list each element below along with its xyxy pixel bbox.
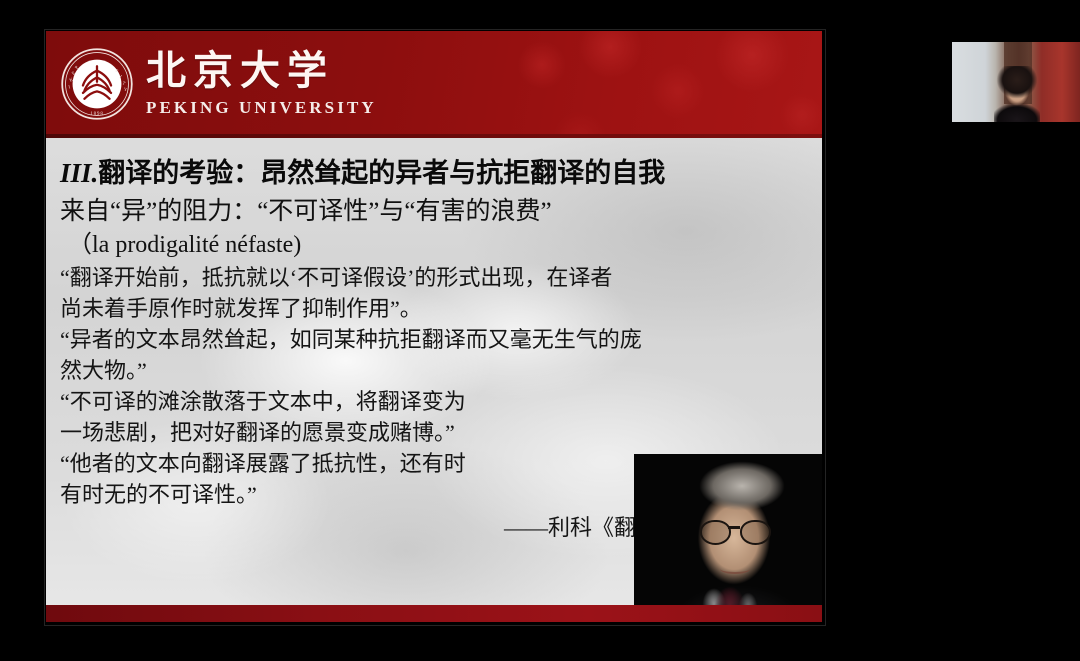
quote-line: 尚未着手原作时就发挥了抑制作用”。 bbox=[60, 293, 814, 324]
webcam-person bbox=[994, 66, 1040, 122]
webcam-video-feed bbox=[952, 42, 1080, 122]
slide-subheading-line2: （la prodigalité néfaste) bbox=[60, 229, 814, 262]
svg-text:T: T bbox=[122, 80, 127, 86]
slide-subheading-line1: 来自“异”的阻力：“不可译性”与“有害的浪费” bbox=[60, 195, 814, 229]
shared-slide[interactable]: PEKING UNIVERSITY P E K I S I T Y 1898 北… bbox=[46, 31, 822, 622]
svg-text:PEKING UNIVERSITY: PEKING UNIVERSITY bbox=[60, 47, 62, 49]
peking-university-seal-icon: PEKING UNIVERSITY P E K I S I T Y 1898 bbox=[60, 47, 134, 121]
presenter-webcam-tile[interactable] bbox=[952, 25, 1080, 139]
quote-line: 一场悲剧，把对好翻译的愿景变成赌博。” bbox=[60, 417, 814, 448]
quote-line: “翻译开始前，抵抗就以‘不可译假设’的形式出现，在译者 bbox=[60, 262, 814, 293]
portrait-mouth-detail bbox=[720, 564, 750, 574]
svg-text:1898: 1898 bbox=[90, 112, 103, 117]
header-decorative-motif bbox=[502, 31, 822, 138]
eyeglasses-detail bbox=[700, 520, 772, 542]
heading-numeral: III. bbox=[60, 158, 98, 188]
university-name-en: PEKING UNIVERSITY bbox=[146, 97, 396, 119]
svg-text:I: I bbox=[68, 84, 71, 89]
quote-line: “不可译的滩涂散落于文本中，将翻译变为 bbox=[60, 386, 814, 417]
glasses-bridge bbox=[728, 526, 740, 529]
heading-text: 翻译的考验：昂然耸起的异者与抗拒翻译的自我 bbox=[98, 158, 665, 188]
video-call-stage: PEKING UNIVERSITY P E K I S I T Y 1898 北… bbox=[0, 0, 1080, 661]
ricoeur-portrait-photo bbox=[634, 454, 822, 622]
quote-line: 然大物。” bbox=[60, 355, 814, 386]
lens-right bbox=[740, 520, 771, 545]
university-name-cn: 北京大学 bbox=[146, 47, 396, 95]
slide-header-band: PEKING UNIVERSITY P E K I S I T Y 1898 北… bbox=[46, 31, 822, 138]
slide-heading: III.翻译的考验：昂然耸起的异者与抗拒翻译的自我 bbox=[60, 153, 814, 194]
slide-footer-band bbox=[46, 605, 822, 622]
lens-left bbox=[700, 520, 731, 545]
peking-university-wordmark: 北京大学 PEKING UNIVERSITY bbox=[146, 47, 396, 123]
quote-line: “异者的文本昂然耸起，如同某种抗拒翻译而又毫无生气的庞 bbox=[60, 324, 814, 355]
